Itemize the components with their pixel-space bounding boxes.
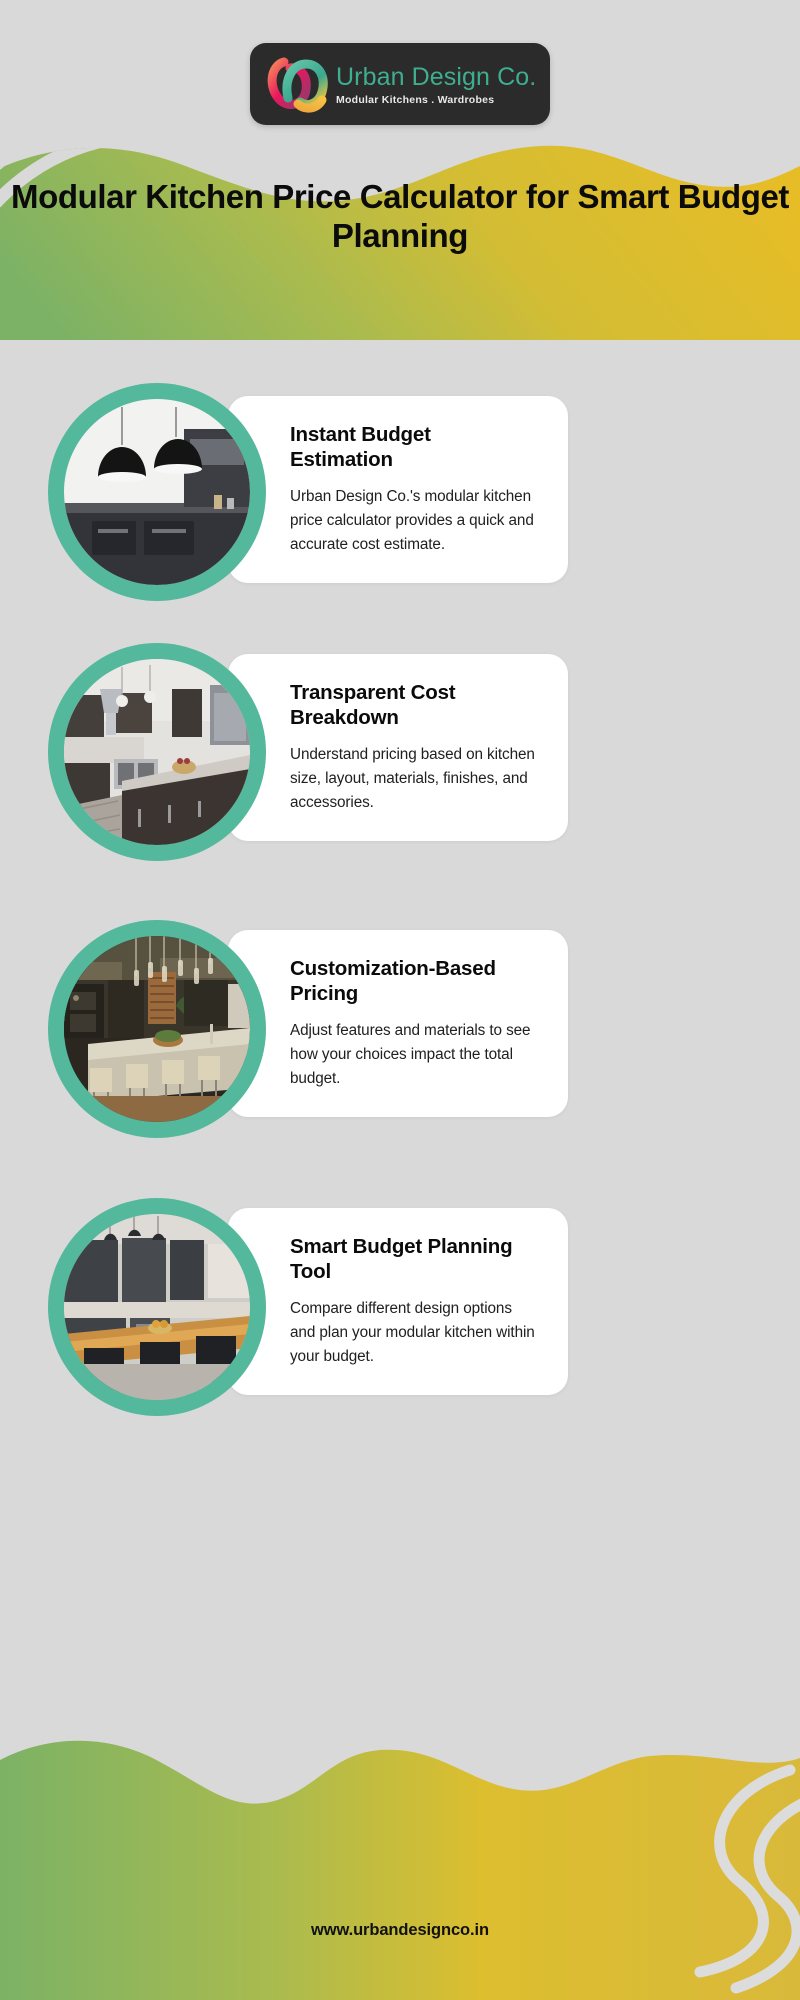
card-body: Urban Design Co.'s modular kitchen price… bbox=[290, 485, 538, 557]
card-body: Compare different design options and pla… bbox=[290, 1297, 538, 1369]
card-title: Customization-Based Pricing bbox=[290, 956, 538, 1006]
card-title: Instant Budget Estimation bbox=[290, 422, 538, 472]
card-title: Smart Budget Planning Tool bbox=[290, 1234, 538, 1284]
feature-card: Customization-Based Pricing Adjust featu… bbox=[228, 930, 568, 1117]
card-image-ring bbox=[48, 383, 266, 601]
feature-card: Instant Budget Estimation Urban Design C… bbox=[228, 396, 568, 583]
brand-logo: Urban Design Co. Modular Kitchens . Ward… bbox=[250, 43, 550, 125]
logo-brand-name: Urban Design Co. bbox=[336, 64, 536, 90]
feature-card: Smart Budget Planning Tool Compare diffe… bbox=[228, 1208, 568, 1395]
card-photo bbox=[64, 1214, 250, 1400]
card-photo bbox=[64, 936, 250, 1122]
card-title: Transparent Cost Breakdown bbox=[290, 680, 538, 730]
footer-wave-banner bbox=[0, 1700, 800, 2000]
card-image-ring bbox=[48, 920, 266, 1138]
page-title: Modular Kitchen Price Calculator for Sma… bbox=[0, 178, 800, 255]
card-photo bbox=[64, 659, 250, 845]
footer-website-url[interactable]: www.urbandesignco.in bbox=[0, 1921, 800, 1940]
card-body: Adjust features and materials to see how… bbox=[290, 1019, 538, 1091]
card-image-ring bbox=[48, 1198, 266, 1416]
card-body: Understand pricing based on kitchen size… bbox=[290, 743, 538, 815]
feature-card: Transparent Cost Breakdown Understand pr… bbox=[228, 654, 568, 841]
card-photo bbox=[64, 399, 250, 585]
logo-swirl-icon bbox=[264, 52, 332, 116]
logo-tagline: Modular Kitchens . Wardrobes bbox=[336, 94, 536, 106]
card-image-ring bbox=[48, 643, 266, 861]
